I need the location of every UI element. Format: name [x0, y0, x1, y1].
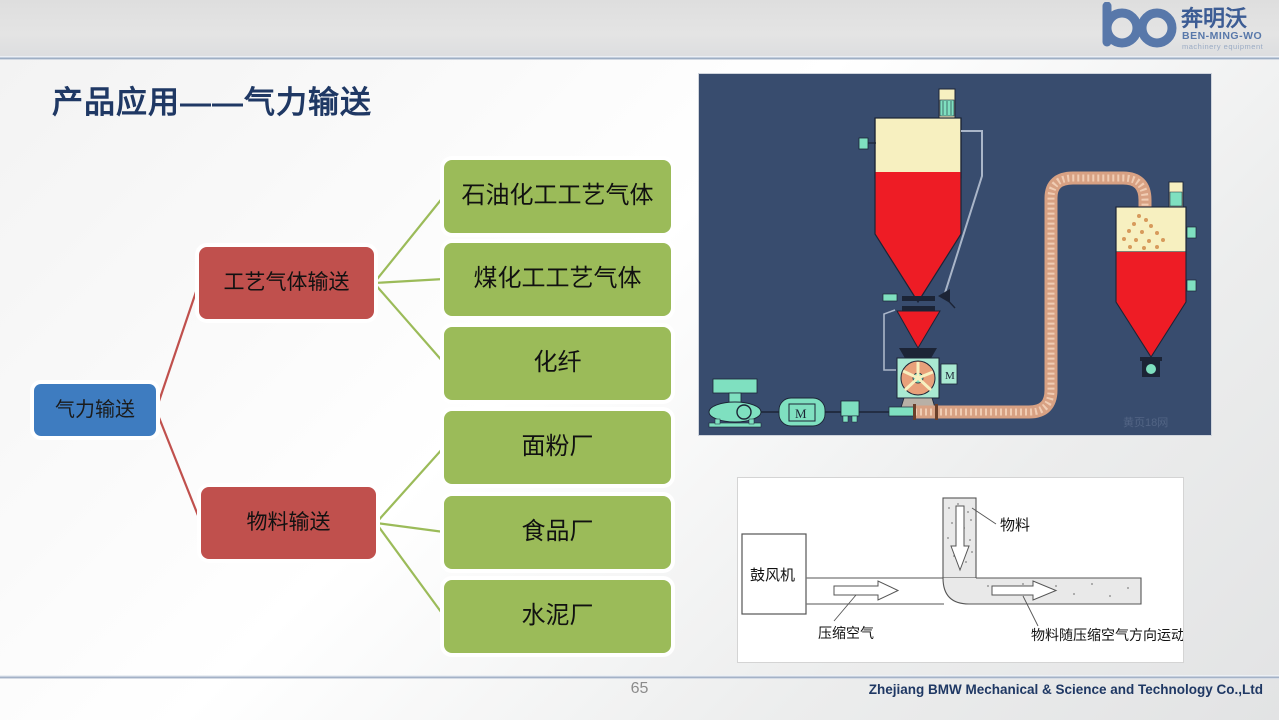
- slide: 奔明沃 BEN-MING-WO machinery equipment 产品应用…: [0, 0, 1279, 720]
- node-leaf-petrochemical-gas[interactable]: 石油化工工艺气体: [444, 160, 671, 233]
- node-leaf-cement-plant[interactable]: 水泥厂: [444, 580, 671, 653]
- node-branch-material[interactable]: 物料输送: [201, 487, 376, 559]
- image-watermark: 黄页18网: [1123, 415, 1168, 429]
- compressed-air-label: 压缩空气: [818, 625, 874, 641]
- header-divider: [0, 56, 1279, 60]
- logo-bo-mark: [1107, 6, 1172, 43]
- header-band: [0, 0, 1279, 58]
- node-branch-process-gas[interactable]: 工艺气体输送: [199, 247, 374, 319]
- logo-tagline: machinery equipment: [1182, 42, 1264, 51]
- material-motion-label: 物料随压缩空气方向运动: [1031, 627, 1183, 643]
- node-root[interactable]: 气力输送: [34, 384, 156, 436]
- node-leaf-food-factory[interactable]: 食品厂: [444, 496, 671, 569]
- logo-chinese-name: 奔明沃: [1181, 6, 1247, 31]
- motor-icon: M: [779, 398, 825, 426]
- svg-text:M: M: [945, 370, 955, 382]
- logo-pinyin: BEN-MING-WO: [1182, 30, 1262, 42]
- footer-divider: [0, 675, 1279, 679]
- svg-text:M: M: [795, 406, 807, 421]
- page-title: 产品应用——气力输送: [52, 77, 372, 122]
- material-label: 物料: [1000, 517, 1030, 534]
- company-logo: 奔明沃 BEN-MING-WO machinery equipment: [1101, 2, 1271, 56]
- blower-label: 鼓风机: [750, 567, 795, 584]
- conveying-principle-image: 鼓风机: [737, 477, 1184, 663]
- footer-company: Zhejiang BMW Mechanical & Science and Te…: [869, 682, 1263, 697]
- leaf-links: [374, 196, 444, 616]
- node-leaf-flour-mill[interactable]: 面粉厂: [444, 411, 671, 484]
- root-links: [156, 283, 201, 523]
- pneumatic-system-image: M M: [698, 73, 1212, 436]
- node-leaf-chemical-fiber[interactable]: 化纤: [444, 327, 671, 400]
- node-leaf-coal-chemical-gas[interactable]: 煤化工工艺气体: [444, 243, 671, 316]
